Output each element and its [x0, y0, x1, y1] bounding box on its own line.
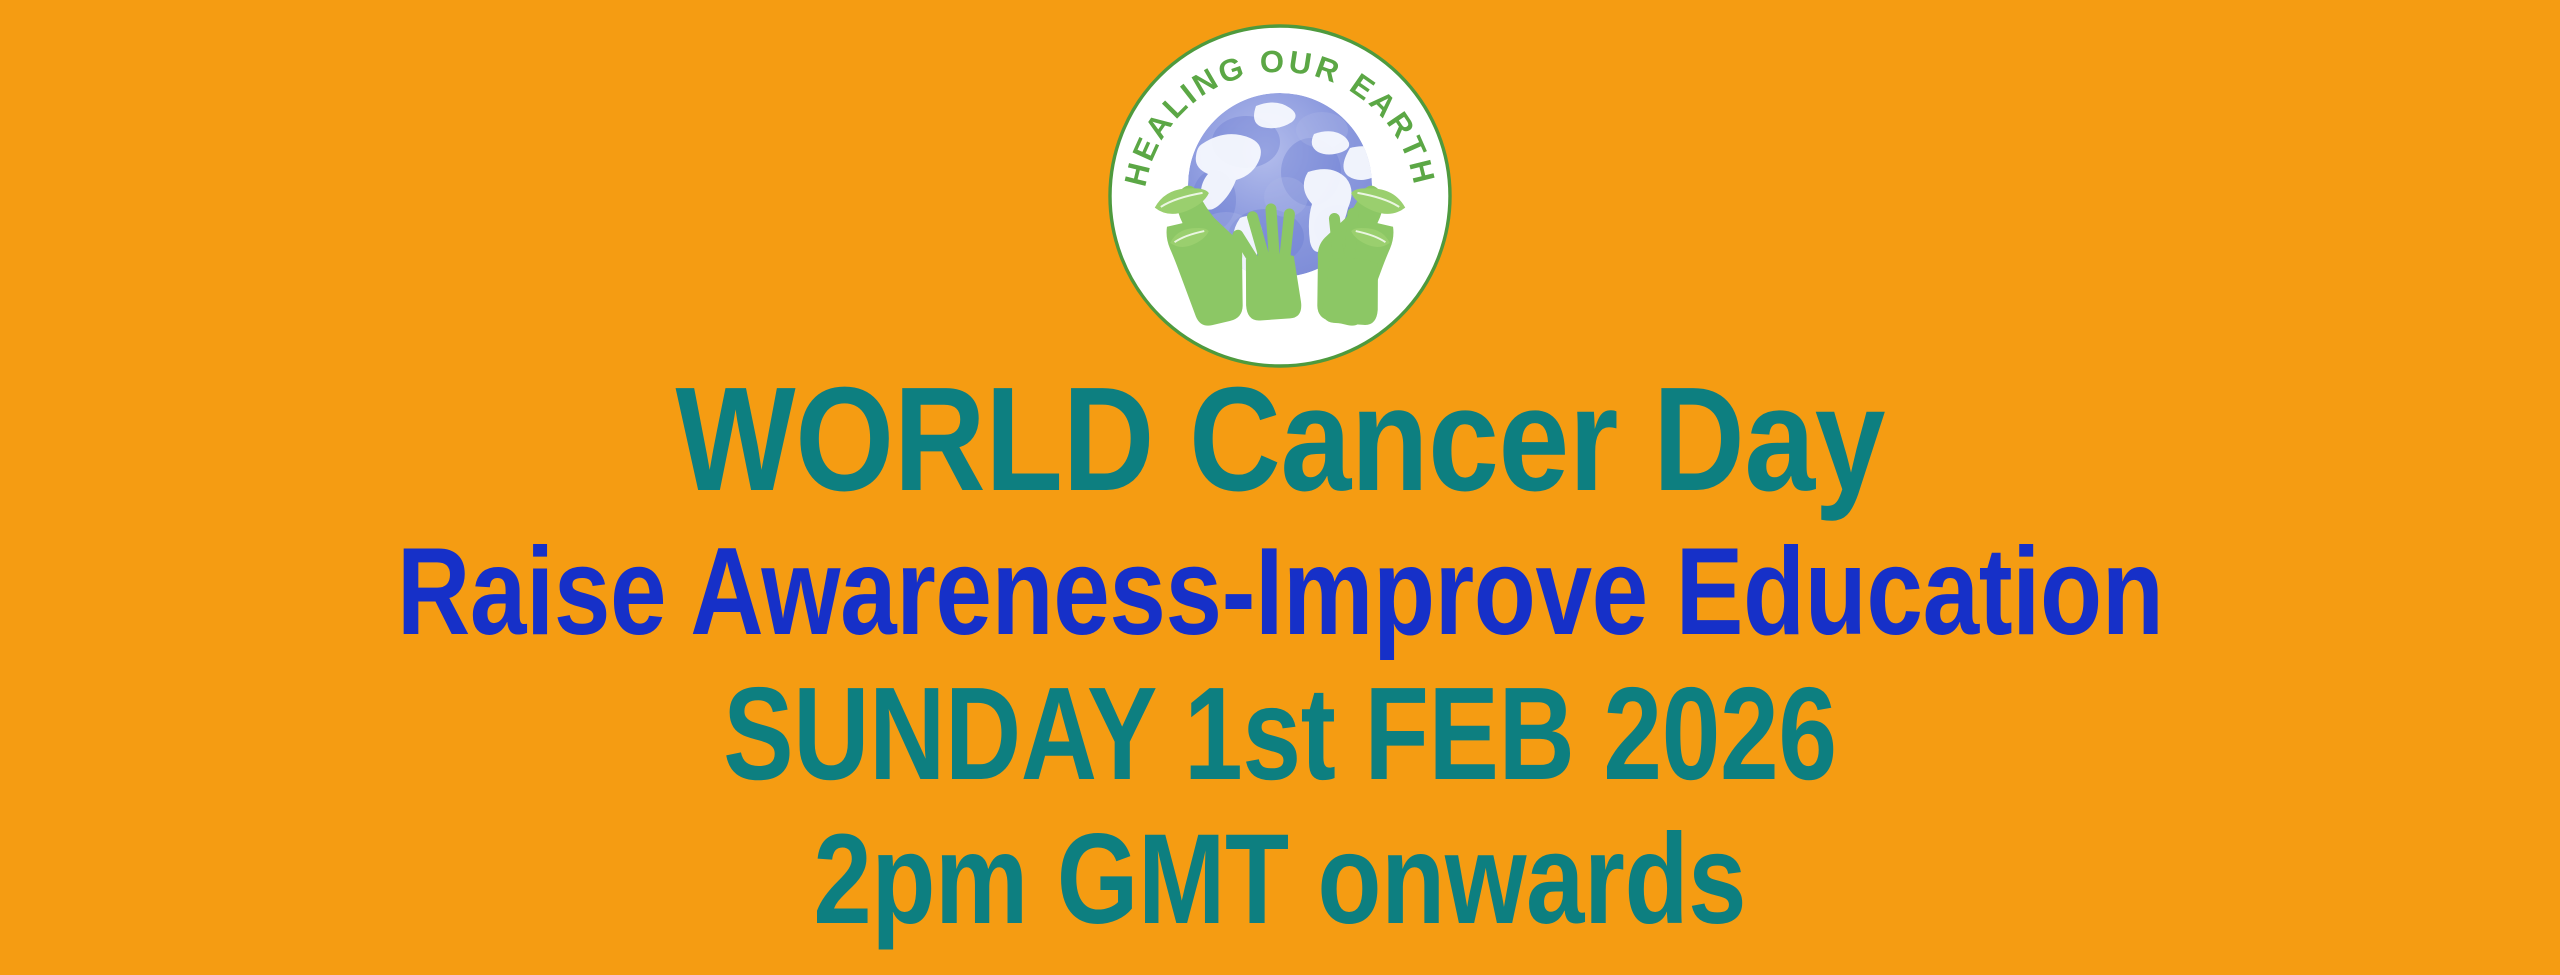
tagline: Raise Awareness-Improve Education [0, 530, 2560, 654]
event-time: 2pm GMT onwards [0, 816, 2560, 944]
event-time-text: 2pm GMT onwards [814, 816, 1747, 944]
tagline-text: Raise Awareness-Improve Education [397, 530, 2164, 654]
page-title: WORLD Cancer Day [0, 366, 2560, 514]
page-title-text: WORLD Cancer Day [675, 366, 1885, 514]
healing-our-earth-logo: HEALING OUR EARTH [1106, 22, 1454, 370]
event-date-text: SUNDAY 1st FEB 2026 [723, 668, 1836, 800]
event-banner: HEALING OUR EARTH WORLD Cancer Day Raise… [0, 0, 2560, 975]
event-date: SUNDAY 1st FEB 2026 [0, 668, 2560, 800]
headline-stack: WORLD Cancer Day Raise Awareness-Improve… [0, 366, 2560, 944]
